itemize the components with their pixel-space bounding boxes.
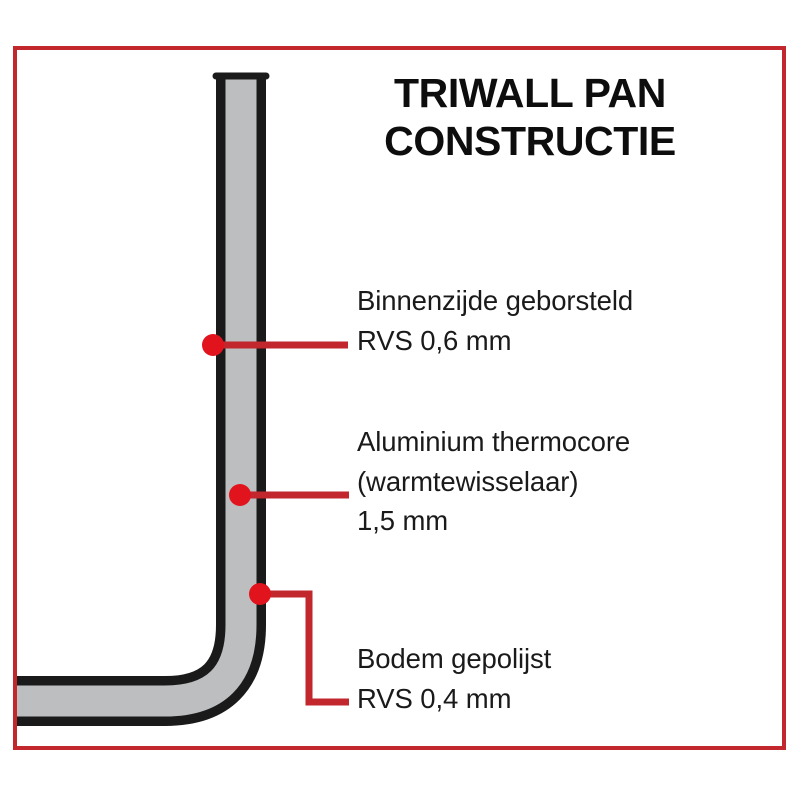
page-title-line-1: TRIWALL PAN [300, 70, 760, 118]
pan-aluminium-thermocore [0, 73, 241, 701]
pan-steel-outer-shell [0, 73, 241, 701]
callout-label-line-3: 1,5 mm [357, 501, 630, 541]
callout-dot-1 [202, 334, 224, 356]
callout-leader-line-3 [260, 594, 349, 702]
page-title: TRIWALL PAN CONSTRUCTIE [300, 70, 760, 165]
callout-label-line-1: Binnenzijde geborsteld [357, 281, 633, 321]
callout-label-inner-layer: Binnenzijde geborsteld RVS 0,6 mm [357, 281, 633, 360]
diagram-canvas: TRIWALL PAN CONSTRUCTIE Binnenzijde gebo… [0, 0, 800, 800]
callout-label-core-layer: Aluminium thermocore (warmtewisselaar) 1… [357, 422, 630, 541]
callout-dot-3 [249, 583, 271, 605]
callout-label-outer-layer: Bodem gepolijst RVS 0,4 mm [357, 639, 551, 718]
callout-label-line-1: Aluminium thermocore [357, 422, 630, 462]
callout-dot-2 [229, 484, 251, 506]
callout-label-line-1: Bodem gepolijst [357, 639, 551, 679]
page-title-line-2: CONSTRUCTIE [300, 118, 760, 166]
callout-label-line-2: RVS 0,4 mm [357, 679, 551, 719]
callout-label-line-2: (warmtewisselaar) [357, 462, 630, 502]
callout-label-line-2: RVS 0,6 mm [357, 321, 633, 361]
